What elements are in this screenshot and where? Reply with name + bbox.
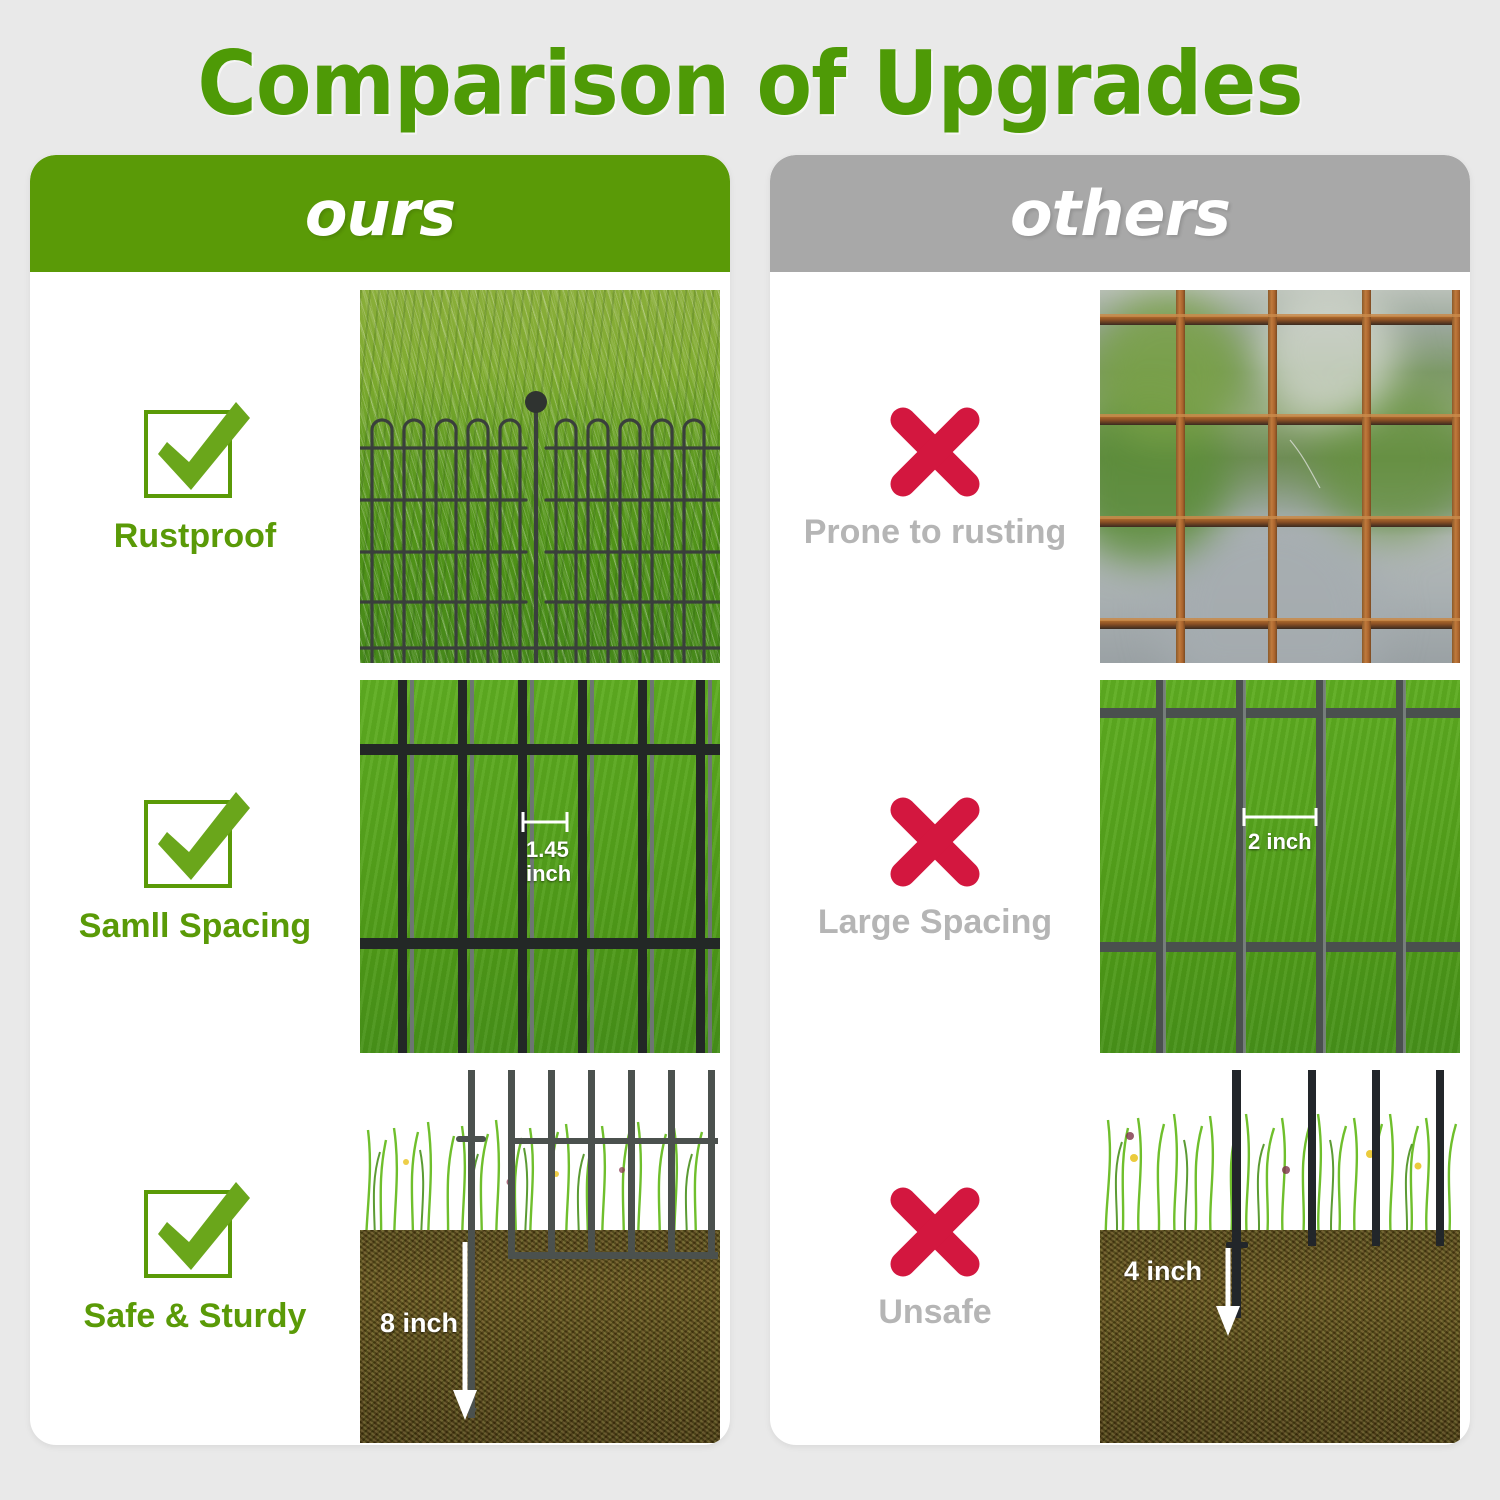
others-card: others Prone to rusting	[770, 155, 1470, 1445]
others-label-rusting: Prone to rusting	[804, 514, 1067, 551]
ours-row-spacing: Samll Spacing	[30, 671, 730, 1061]
red-x-icon	[883, 400, 987, 504]
column-ours: ours Rustproof	[30, 155, 730, 1445]
red-x-icon	[883, 1180, 987, 1284]
others-feature-unsafe: Unsafe	[770, 1061, 1100, 1445]
ours-label-spacing: Samll Spacing	[79, 908, 311, 945]
image-narrow-spacing-grid: 1.45 inch	[360, 680, 720, 1053]
others-feature-spacing: Large Spacing	[770, 671, 1100, 1061]
ours-feature-sturdy: Safe & Sturdy	[30, 1061, 360, 1445]
depth-arrow	[1212, 1248, 1244, 1338]
image-wide-spacing-grid: 2 inch	[1100, 680, 1460, 1053]
spacing-dimension-bar	[520, 810, 570, 834]
spacing-dimension-bar	[1241, 806, 1319, 828]
ours-label-rustproof: Rustproof	[114, 518, 276, 555]
wide-grid-bars	[1100, 680, 1460, 1053]
comparison-infographic: Comparison of Upgrades ours Rustproof	[0, 0, 1500, 1500]
image-rusty-wire-mesh	[1100, 290, 1460, 663]
others-header: others	[770, 155, 1470, 272]
ours-card: ours Rustproof	[30, 155, 730, 1445]
depth-dimension-label: 8 inch	[380, 1308, 458, 1338]
post-finial-ball	[525, 391, 547, 413]
others-feature-rusting: Prone to rusting	[770, 281, 1100, 671]
wire-fence-overlay	[360, 290, 720, 663]
spacing-dimension-label: 1.45 inch	[526, 838, 571, 887]
others-row-unsafe: Unsafe	[770, 1061, 1470, 1445]
fence-stake-overlay	[360, 1070, 720, 1443]
others-row-spacing: Large Spacing	[770, 671, 1470, 1061]
others-label-spacing: Large Spacing	[818, 904, 1052, 941]
cobweb-strand	[1290, 440, 1320, 488]
check-box-icon	[136, 786, 254, 898]
others-header-label: others	[1010, 177, 1230, 250]
others-row-rusting: Prone to rusting	[770, 281, 1470, 671]
image-shallow-stake-in-soil: 4 inch	[1100, 1070, 1460, 1443]
ours-feature-rustproof: Rustproof	[30, 281, 360, 671]
ours-header: ours	[30, 155, 730, 272]
check-box-icon	[136, 396, 254, 508]
ours-row-rustproof: Rustproof	[30, 281, 730, 671]
red-x-icon	[883, 790, 987, 894]
spacing-dimension-label: 2 inch	[1248, 830, 1312, 855]
ours-label-sturdy: Safe & Sturdy	[84, 1298, 307, 1335]
image-deep-stake-in-soil: 8 inch	[360, 1070, 720, 1443]
ours-row-sturdy: Safe & Sturdy	[30, 1061, 730, 1445]
check-box-icon	[136, 1176, 254, 1288]
image-rain-on-wire-fence	[360, 290, 720, 663]
rusty-mesh-overlay	[1100, 290, 1460, 663]
ours-feature-spacing: Samll Spacing	[30, 671, 360, 1061]
page-title: Comparison of Upgrades	[60, 32, 1440, 135]
others-label-unsafe: Unsafe	[878, 1294, 991, 1331]
column-others: others Prone to rusting	[770, 155, 1470, 1445]
soil-scene: 8 inch	[360, 1070, 720, 1443]
soil-scene: 4 inch	[1100, 1070, 1460, 1443]
ours-header-label: ours	[305, 177, 455, 250]
depth-dimension-label: 4 inch	[1124, 1256, 1202, 1286]
